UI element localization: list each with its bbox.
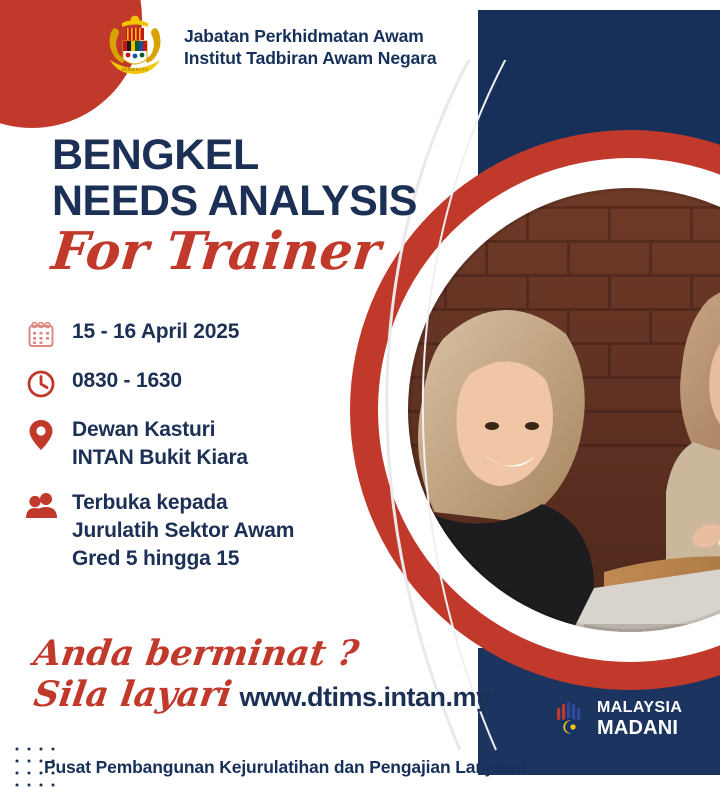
title-line-1: BENGKEL — [52, 133, 417, 179]
audience-line-3: Gred 5 hingga 15 — [72, 545, 294, 573]
detail-row-venue: Dewan Kasturi INTAN Bukit Kiara — [26, 416, 426, 472]
footer-department-text: Pusat Pembangunan Kejurulatihan dan Peng… — [44, 757, 527, 778]
calendar-icon — [26, 318, 72, 350]
madani-line-1: MALAYSIA — [597, 700, 682, 716]
title-block: BENGKEL NEEDS ANALYSIS For Trainer — [52, 133, 417, 278]
cta-script-line-1: Anda berminat ? — [31, 636, 493, 673]
website-url[interactable]: www.dtims.intan.my — [239, 682, 490, 713]
location-pin-icon — [26, 416, 72, 452]
time-line: 0830 - 1630 — [72, 367, 182, 395]
detail-text-audience: Terbuka kepada Jurulatih Sektor Awam Gre… — [72, 489, 294, 573]
audience-line-1: Terbuka kepada — [72, 489, 294, 517]
date-line: 15 - 16 April 2025 — [72, 318, 239, 346]
madani-line-2: MADANI — [597, 718, 682, 738]
call-to-action: Anda berminat ? Sila layari www.dtims.in… — [34, 636, 491, 714]
org-line-2: Institut Tadbiran Awam Negara — [184, 47, 437, 69]
org-line-1: Jabatan Perkhidmatan Awam — [184, 25, 437, 47]
detail-row-time: 0830 - 1630 — [26, 367, 426, 399]
malaysian-coat-of-arms-icon: BERSEKUTU — [100, 14, 170, 80]
header-brand: BERSEKUTU Jabatan Perkhidmatan Awam Inst… — [100, 14, 437, 80]
malaysia-madani-wordmark: MALAYSIA MADANI — [597, 700, 682, 738]
malaysia-madani-logo: MALAYSIA MADANI — [554, 700, 682, 738]
audience-line-2: Jurulatih Sektor Awam — [72, 517, 294, 545]
detail-text-time: 0830 - 1630 — [72, 367, 182, 395]
title-line-2: NEEDS ANALYSIS — [52, 179, 417, 225]
detail-row-audience: Terbuka kepada Jurulatih Sektor Awam Gre… — [26, 489, 426, 573]
venue-line-2: INTAN Bukit Kiara — [72, 444, 248, 472]
svg-text:BERSEKUTU: BERSEKUTU — [121, 67, 149, 72]
malaysia-madani-mark-icon — [554, 701, 588, 737]
cta-script-line-2: Sila layari — [31, 677, 234, 714]
detail-row-date: 15 - 16 April 2025 — [26, 318, 426, 350]
poster-canvas: BERSEKUTU Jabatan Perkhidmatan Awam Inst… — [0, 0, 720, 800]
event-details: 15 - 16 April 2025 0830 - 1630 — [26, 318, 426, 590]
venue-line-1: Dewan Kasturi — [72, 416, 248, 444]
cta-line-2: Sila layari www.dtims.intan.my — [34, 677, 491, 714]
org-name-block: Jabatan Perkhidmatan Awam Institut Tadbi… — [184, 25, 437, 70]
detail-text-venue: Dewan Kasturi INTAN Bukit Kiara — [72, 416, 248, 472]
clock-icon — [26, 367, 72, 399]
people-icon — [26, 489, 72, 521]
title-script: For Trainer — [49, 226, 419, 278]
detail-text-date: 15 - 16 April 2025 — [72, 318, 239, 346]
